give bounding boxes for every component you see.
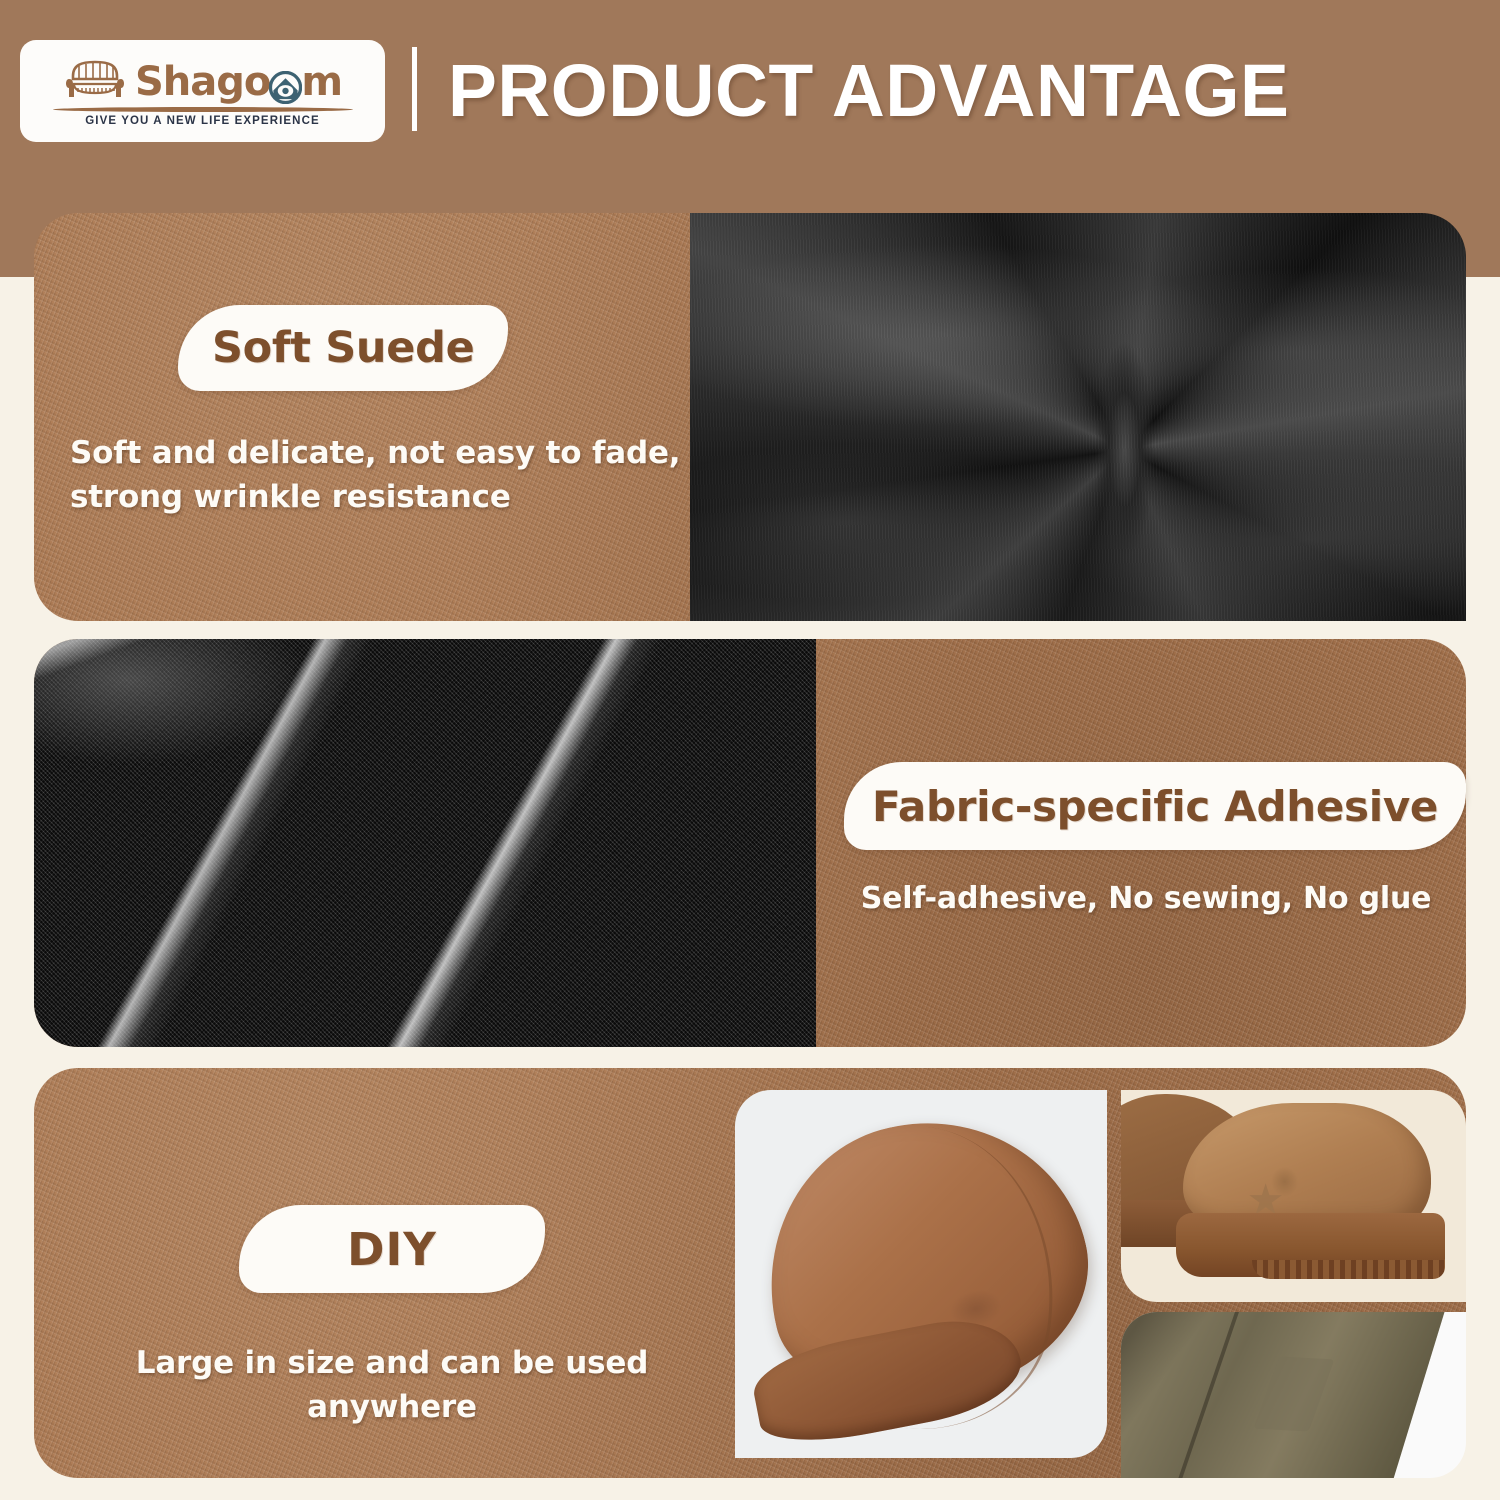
soft-suede-description: Soft and delicate, not easy to fade, str… bbox=[70, 431, 700, 519]
adhesive-title: Fabric-specific Adhesive bbox=[872, 782, 1438, 831]
black-suede-fabric-swirl-photo bbox=[690, 213, 1466, 621]
boot-tread-pattern bbox=[1252, 1260, 1445, 1279]
brand-name-part1: Shag bbox=[135, 62, 244, 102]
soft-suede-title: Soft Suede bbox=[212, 323, 474, 373]
logo-underline-rule bbox=[53, 107, 353, 112]
diy-title: DIY bbox=[347, 1223, 437, 1276]
diy-description: Large in size and can be used anywhere bbox=[62, 1341, 722, 1429]
sofa-logo-icon bbox=[63, 59, 127, 105]
brand-wordmark: Shag o m bbox=[135, 62, 342, 102]
vertical-bar-divider-icon bbox=[412, 47, 417, 131]
adhesive-texture-overlay bbox=[34, 639, 816, 1047]
logo-row: Shag o m bbox=[63, 59, 342, 105]
page-title: PRODUCT ADVANTAGE bbox=[448, 42, 1289, 138]
soft-suede-text-block: Soft Suede Soft and delicate, not easy t… bbox=[70, 305, 700, 519]
diy-text-block: DIY Large in size and can be used anywhe… bbox=[62, 1205, 722, 1429]
adhesive-backing-macro-photo bbox=[34, 639, 816, 1047]
brown-suede-flat-cap-photo bbox=[735, 1090, 1107, 1458]
olive-suede-garment-photo bbox=[1121, 1312, 1466, 1478]
adhesive-description: Self-adhesive, No sewing, No glue bbox=[844, 878, 1448, 921]
brand-logo-plate: Shag o m GIVE YOU A NEW LIFE EXPERIENCE bbox=[20, 40, 385, 142]
adhesive-text-block: Fabric-specific Adhesive Self-adhesive, … bbox=[844, 762, 1448, 921]
soft-suede-title-pill: Soft Suede bbox=[178, 305, 508, 391]
brand-name-part3: m bbox=[301, 62, 342, 102]
suede-texture-overlay bbox=[690, 213, 1466, 621]
adhesive-title-pill: Fabric-specific Adhesive bbox=[844, 762, 1466, 850]
diy-title-pill: DIY bbox=[239, 1205, 545, 1293]
brand-name-part2: o bbox=[244, 62, 270, 102]
eye-logo-o bbox=[269, 71, 302, 104]
tan-suede-platform-boots-photo bbox=[1121, 1090, 1466, 1302]
brand-tagline: GIVE YOU A NEW LIFE EXPERIENCE bbox=[85, 115, 320, 127]
